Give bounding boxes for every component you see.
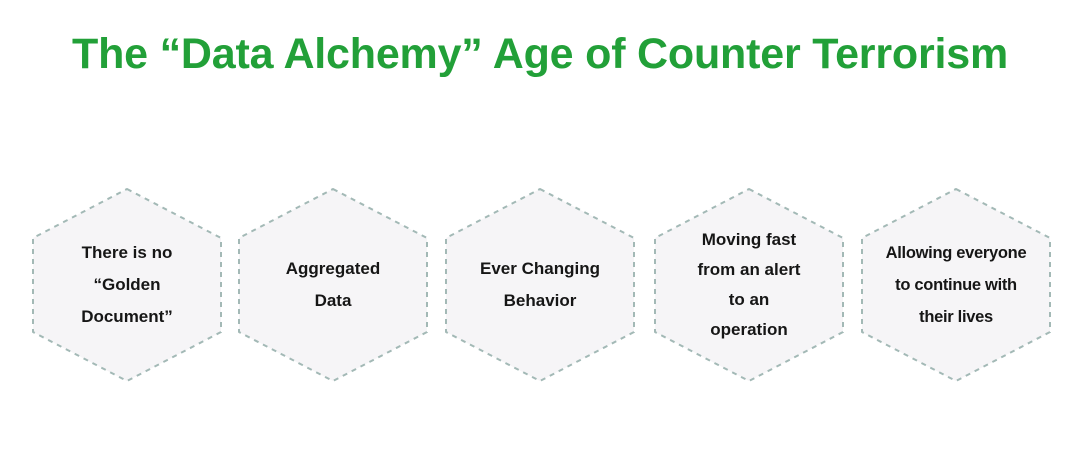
hexagon-label-line: Document”: [81, 301, 173, 333]
hexagon-label-line: from an alert: [698, 255, 801, 285]
hexagon-aggregated-data[interactable]: Aggregated Data: [236, 186, 430, 384]
hexagon-label-line: operation: [710, 315, 787, 345]
hexagon-label: Allowing everyone to continue with their…: [859, 186, 1053, 384]
hexagon-row: There is no “Golden Document” Aggregated…: [0, 0, 1080, 468]
hexagon-ever-changing-behavior[interactable]: Ever Changing Behavior: [443, 186, 637, 384]
hexagon-moving-fast[interactable]: Moving fast from an alert to an operatio…: [652, 186, 846, 384]
hexagon-golden-document[interactable]: There is no “Golden Document”: [30, 186, 224, 384]
hexagon-allowing-everyone[interactable]: Allowing everyone to continue with their…: [859, 186, 1053, 384]
hexagon-label-line: Data: [315, 285, 352, 317]
hexagon-label-line: Moving fast: [702, 225, 796, 255]
hexagon-label: Ever Changing Behavior: [443, 186, 637, 384]
hexagon-label-line: Ever Changing: [480, 253, 600, 285]
hexagon-label-line: There is no: [82, 237, 173, 269]
hexagon-label-line: “Golden: [93, 269, 160, 301]
hexagon-label-line: Behavior: [504, 285, 577, 317]
hexagon-label-line: their lives: [919, 301, 993, 333]
hexagon-label-line: to continue with: [895, 269, 1017, 301]
hexagon-label: Aggregated Data: [236, 186, 430, 384]
hexagon-label-line: Allowing everyone: [886, 237, 1027, 269]
hexagon-label: Moving fast from an alert to an operatio…: [652, 186, 846, 384]
hexagon-label-line: Aggregated: [286, 253, 380, 285]
hexagon-label-line: to an: [729, 285, 770, 315]
slide-canvas: The “Data Alchemy” Age of Counter Terror…: [0, 0, 1080, 468]
hexagon-label: There is no “Golden Document”: [30, 186, 224, 384]
